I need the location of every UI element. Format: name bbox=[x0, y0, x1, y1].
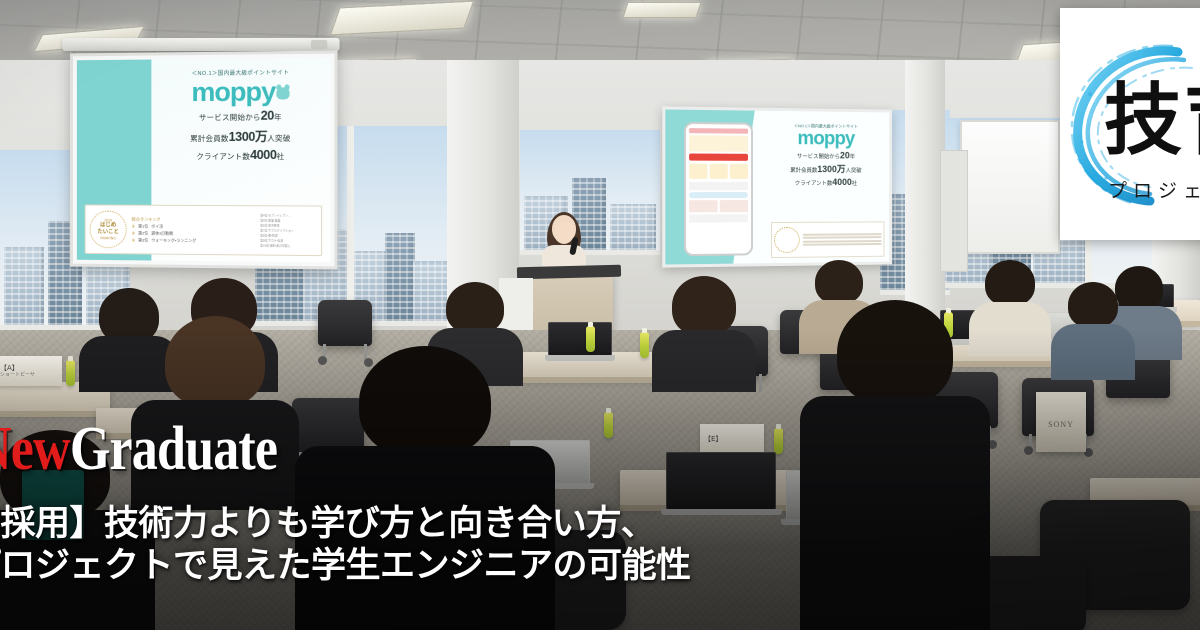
phone-row bbox=[689, 182, 748, 190]
ranking-box: 2024 はじめ たいこと RANKING 総合ランキング ♛ 第1位 ポイ活 bbox=[85, 204, 322, 256]
article-banner: ＜NO.1＞国内最大級ポイントサイト moppy サービス開始から20年 累計会… bbox=[0, 0, 1200, 630]
ranking-place: 第2位 bbox=[138, 230, 148, 236]
slide-stat-line: クライアント数4000社 bbox=[152, 148, 331, 162]
phone-card-grid bbox=[689, 200, 748, 212]
person-head bbox=[1068, 282, 1118, 328]
stat-number: 20 bbox=[261, 109, 274, 123]
brand-logo-card: 技育 プロジェ bbox=[1060, 8, 1200, 240]
ranking-badge-icon: 2024 はじめ たいこと RANKING bbox=[90, 210, 127, 248]
audience-person bbox=[92, 288, 166, 378]
person-body bbox=[969, 302, 1051, 356]
moppy-wordmark: moppy bbox=[191, 76, 275, 107]
ranking-heading: 総合ランキング bbox=[132, 216, 255, 223]
person-body bbox=[800, 396, 990, 630]
ranking-row: ♛ 第2位 週休3日勤務 bbox=[132, 230, 255, 237]
ranking-box bbox=[771, 221, 885, 258]
presentation-slide-main: ＜NO.1＞国内最大級ポイントサイト moppy サービス開始から20年 累計会… bbox=[77, 58, 330, 263]
phone-cta-button bbox=[689, 154, 748, 161]
phone-row bbox=[689, 214, 748, 222]
stat-number: 4000 bbox=[250, 148, 276, 162]
phone-hero-banner bbox=[689, 135, 748, 152]
ranking-side-item: 第7位 サブスクリプション bbox=[260, 228, 317, 232]
office-chair bbox=[318, 300, 372, 346]
audience-person bbox=[664, 276, 744, 376]
stat-prefix: 累計会員数 bbox=[190, 134, 228, 143]
whiteboard bbox=[960, 120, 1060, 254]
ranking-side-item: 第8位 株・投資 bbox=[260, 233, 317, 237]
person-body bbox=[1051, 324, 1135, 380]
paw-icon bbox=[276, 87, 289, 99]
headline-line-1: 卒採用】技術力よりも学び方と向き合い方、 bbox=[0, 504, 655, 545]
slide-stat-line: サービス開始から20年 bbox=[152, 108, 331, 123]
person-head bbox=[446, 282, 504, 334]
tent-sub: ショートピーサ bbox=[0, 372, 35, 378]
chair-wheel bbox=[1024, 446, 1033, 455]
moppy-wordmark: moppy bbox=[762, 129, 890, 149]
phone-mockup bbox=[684, 122, 753, 256]
ranking-side-item: 第10位 節約・家計見直し bbox=[260, 243, 317, 248]
kicker-word-new: New bbox=[0, 415, 70, 483]
person-head bbox=[165, 316, 265, 408]
tea-bottle bbox=[66, 360, 75, 386]
ranking-list: 総合ランキング ♛ 第1位 ポイ活 ♛ 第2位 週休3日勤務 ♛ bbox=[132, 216, 255, 244]
person-head bbox=[672, 276, 736, 336]
slide-stat-line: サービス開始から20年 bbox=[762, 150, 890, 161]
ranking-list bbox=[802, 233, 881, 246]
stat-prefix: クライアント数 bbox=[196, 152, 250, 161]
tea-bottle bbox=[640, 332, 649, 358]
tea-bottle bbox=[586, 326, 595, 352]
bag-label: SONY bbox=[1036, 420, 1086, 429]
laptop bbox=[548, 322, 612, 356]
ranking-side-item: 第6位 地方移住 bbox=[260, 223, 317, 227]
crown-icon: ♛ bbox=[132, 224, 136, 229]
kicker-word-graduate: Graduate bbox=[70, 415, 277, 483]
slide-stat-line: 累計会員数1300万人突破 bbox=[762, 162, 890, 175]
stat-prefix: クライアント数 bbox=[795, 181, 833, 187]
ranking-row: ♛ 第1位 ポイ活 bbox=[132, 223, 255, 230]
audience-person-foreground bbox=[330, 346, 520, 630]
audience-person bbox=[978, 260, 1042, 346]
chair-wheel bbox=[318, 356, 327, 365]
stat-prefix: サービス開始から bbox=[199, 113, 261, 122]
person-head bbox=[815, 260, 863, 304]
tent-id: 【E】 bbox=[704, 435, 722, 444]
stat-suffix: 人突破 bbox=[846, 168, 862, 174]
ranking-place: 第1位 bbox=[138, 223, 148, 229]
ranking-label: ウォーキング・ランニング bbox=[151, 237, 196, 243]
crown-icon: ♛ bbox=[132, 237, 136, 242]
ranking-side-item: 第9位 サウナ・温泉 bbox=[260, 238, 317, 242]
phone-icon-row bbox=[689, 164, 748, 179]
ranking-side-item: 第4位 セブンイレブン… bbox=[260, 213, 317, 217]
stat-suffix: 社 bbox=[277, 152, 285, 161]
stat-number: 1300万 bbox=[229, 130, 268, 144]
wall-column bbox=[905, 60, 945, 310]
tea-bottle bbox=[604, 412, 613, 438]
stat-number: 20 bbox=[840, 150, 850, 160]
stat-number: 1300万 bbox=[817, 164, 845, 174]
table-tent-card: 【E】 bbox=[700, 424, 764, 454]
kicker-text: NewGraduate bbox=[0, 418, 277, 480]
ranking-side-item: 第5位 副業・複業 bbox=[260, 218, 317, 222]
stat-prefix: 累計会員数 bbox=[790, 168, 817, 174]
audience-person bbox=[1062, 282, 1124, 368]
projection-screen-main: ＜NO.1＞国内最大級ポイントサイト moppy サービス開始から20年 累計会… bbox=[70, 51, 337, 270]
window-mullion bbox=[347, 126, 354, 321]
stat-suffix: 社 bbox=[852, 181, 857, 187]
laptop bbox=[666, 452, 776, 510]
phone-pill bbox=[689, 192, 748, 198]
logo-kanji-text: 技育 bbox=[1104, 82, 1200, 160]
door bbox=[940, 150, 968, 272]
stat-suffix: 年 bbox=[850, 154, 855, 160]
stat-prefix: サービス開始から bbox=[797, 154, 840, 160]
projector-screen-roller bbox=[62, 38, 339, 51]
audience-person-foreground bbox=[820, 300, 970, 630]
logo-subtitle-text: プロジェ bbox=[1108, 176, 1200, 203]
stat-number: 4000 bbox=[832, 177, 851, 187]
building bbox=[610, 204, 656, 250]
ranking-side-list: 第4位 セブンイレブン… 第5位 副業・複業 第6位 地方移住 第7位 サブスク… bbox=[260, 213, 317, 248]
table-tent-card: 【A】 ショートピーサ bbox=[0, 356, 62, 386]
crown-icon: ♛ bbox=[132, 231, 136, 236]
person-head bbox=[359, 346, 491, 458]
person-head bbox=[837, 300, 953, 406]
building bbox=[4, 247, 44, 325]
headline-line-2: プロジェクトで見えた学生エンジニアの可能性 bbox=[0, 546, 691, 587]
tent-id: 【A】 bbox=[0, 364, 19, 373]
ranking-row: ♛ 第3位 ウォーキング・ランニング bbox=[132, 237, 255, 244]
paper-bag: SONY bbox=[1036, 392, 1086, 452]
slide-stat-line: 累計会員数1300万人突破 bbox=[152, 126, 331, 146]
stat-suffix: 人突破 bbox=[267, 134, 290, 143]
badge-footer: RANKING bbox=[100, 236, 116, 240]
person-body bbox=[652, 330, 756, 392]
ranking-label: ポイ活 bbox=[151, 223, 163, 229]
person-head bbox=[985, 260, 1035, 306]
moppy-logo: moppy bbox=[152, 78, 331, 106]
ceiling-light-icon bbox=[622, 2, 701, 18]
ranking-place: 第3位 bbox=[138, 237, 148, 243]
tea-bottle bbox=[774, 428, 783, 454]
slide-stat-line: クライアント数4000社 bbox=[762, 177, 890, 187]
phone-header bbox=[689, 128, 748, 134]
projection-screen-secondary: ＜NO.1＞国内最大級ポイントサイト moppy サービス開始から20年 累計会… bbox=[662, 106, 892, 267]
ranking-badge-icon bbox=[774, 227, 800, 253]
building bbox=[385, 233, 415, 321]
stat-suffix: 年 bbox=[274, 113, 282, 122]
ranking-label: 週休3日勤務 bbox=[151, 230, 173, 236]
